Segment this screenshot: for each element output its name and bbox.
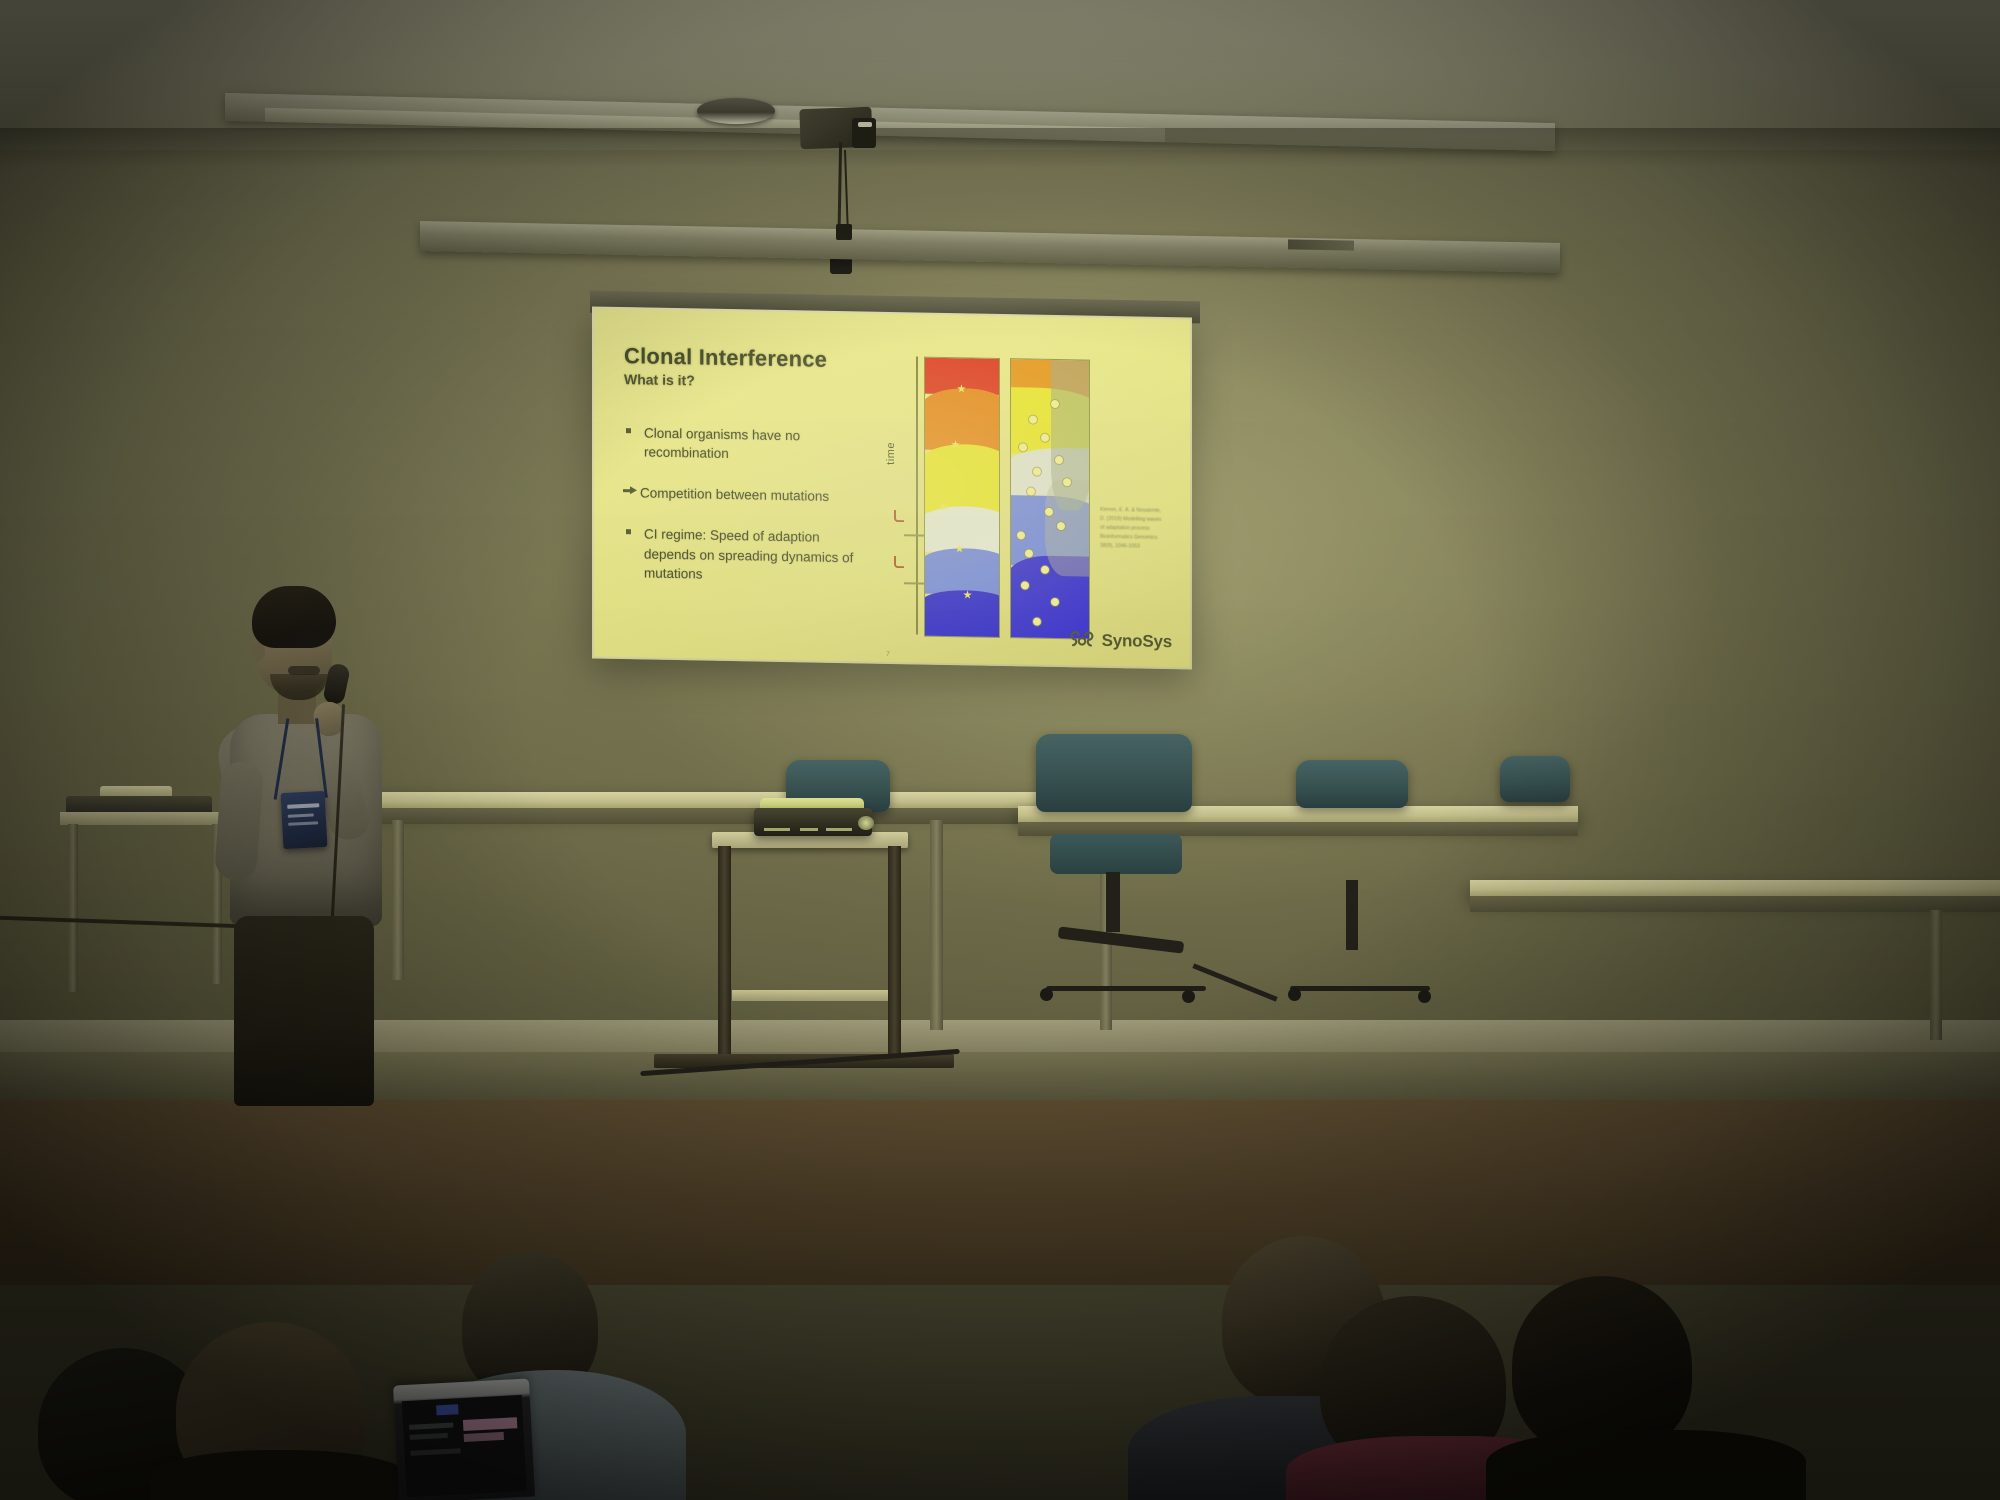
mutation-marker-icon: [1055, 456, 1063, 464]
citation-text: Klemm, E. A. & Nosaionte, D. (2019) Mode…: [1100, 506, 1166, 553]
time-axis-label: time: [885, 442, 897, 465]
chair-caster: [1418, 990, 1431, 1003]
audience-laptop: [393, 1379, 535, 1500]
band-deepblue: [924, 590, 1000, 638]
chair-post: [1346, 880, 1358, 950]
projector-lens-icon: [858, 816, 874, 830]
projector-vent: [800, 828, 818, 831]
mutation-marker-icon: [1063, 478, 1071, 486]
chair-base: [1046, 986, 1206, 991]
mutation-marker-icon: [1041, 566, 1049, 574]
mutation-marker-icon: [1045, 508, 1053, 516]
ceiling-shadow: [0, 128, 2000, 168]
bullet-square-icon: [626, 428, 631, 433]
laptop-screen: [402, 1395, 527, 1497]
time-axis-line: [916, 356, 918, 634]
presenter-legs: [234, 916, 374, 1106]
mutation-marker-icon: [1025, 549, 1033, 557]
mutation-marker-icon: [1057, 522, 1065, 530]
lecture-hall-photo: Clonal Interference What is it? Clonal o…: [0, 0, 2000, 1500]
band-orange: [924, 388, 1000, 452]
mutation-marker-icon: [1029, 416, 1037, 424]
mutation-marker-icon: [1027, 487, 1035, 495]
mutation-marker-icon: [1051, 400, 1059, 408]
bullet-item-3: CI regime: Speed of adaption depends on …: [624, 525, 874, 587]
rail-clip: [836, 224, 852, 240]
side-table-leg: [68, 824, 78, 992]
projector-vent: [826, 828, 852, 831]
presenter-arm-left: [214, 761, 264, 882]
bullet-text-1: Clonal organisms have no recombination: [644, 425, 800, 461]
bullet-text-3: CI regime: Speed of adaption depends on …: [644, 527, 853, 581]
band-lightblue: [924, 548, 1000, 596]
projector-body: [754, 808, 872, 836]
clone-lineage-pale: [1045, 480, 1090, 577]
bullet-arrow-icon: [623, 486, 637, 494]
band-white: [924, 506, 1000, 554]
audience-head-right-3: [1512, 1276, 1692, 1456]
stand-shelf: [732, 990, 888, 1001]
muller-diagram: time: [882, 334, 1178, 661]
conference-badge: [281, 791, 328, 849]
projector-icon: [754, 798, 872, 840]
audience-body-right-3: [1486, 1430, 1806, 1500]
chair-backrest: [1036, 734, 1192, 812]
muller-panel-right: [1010, 358, 1090, 639]
bullet-text-2: Competition between mutations: [640, 486, 829, 504]
chair-post: [1106, 872, 1120, 932]
projector-vent: [764, 828, 790, 831]
mutation-marker-icon: [1041, 434, 1049, 442]
mutation-marker-icon: [1017, 531, 1025, 539]
slide-page-number: 7: [886, 651, 890, 658]
rail-label: [1288, 239, 1354, 250]
presenter: [196, 586, 426, 1106]
chair-caster: [1288, 988, 1301, 1001]
chair-seat: [1050, 834, 1182, 874]
chair-caster: [1182, 990, 1195, 1003]
chair-backrest: [1500, 756, 1570, 802]
mutation-marker-icon: [1021, 581, 1029, 589]
slide: Clonal Interference What is it? Clonal o…: [594, 309, 1190, 668]
bullet-item-2: Competition between mutations: [624, 483, 874, 507]
table-leg: [1930, 910, 1942, 1040]
bullet-item-1: Clonal organisms have no recombination: [624, 423, 874, 466]
presenter-hair: [252, 586, 336, 648]
synosys-wordmark: SynoSys: [1102, 631, 1172, 652]
muller-panel-left: [924, 357, 1000, 638]
stand-leg: [888, 846, 901, 1058]
stand-leg: [718, 846, 731, 1058]
slide-title: Clonal Interference: [624, 343, 827, 373]
mutation-marker-icon: [1051, 598, 1059, 606]
chair-base: [1290, 986, 1430, 991]
audience-body-left: [150, 1450, 410, 1500]
mutation-marker-icon: [1019, 443, 1027, 451]
synosys-knot-icon: [1069, 627, 1095, 653]
synosys-logo: SynoSys: [1069, 627, 1172, 655]
mutation-marker-icon: [1033, 618, 1041, 626]
slide-subtitle: What is it?: [624, 371, 695, 388]
ceiling-speaker-icon: [697, 98, 775, 124]
band-yellow: [924, 444, 1000, 514]
bullet-square-icon: [626, 530, 631, 535]
table-leg: [930, 820, 943, 1030]
projector-stand: [712, 832, 908, 1090]
chair-caster: [1040, 988, 1053, 1001]
sensor-led-icon: [858, 122, 872, 127]
table-right-apron: [1470, 896, 2000, 912]
chair-backrest: [1296, 760, 1408, 808]
mutation-marker-icon: [1033, 468, 1041, 476]
slide-bullet-list: Clonal organisms have no recombination C…: [624, 423, 874, 609]
